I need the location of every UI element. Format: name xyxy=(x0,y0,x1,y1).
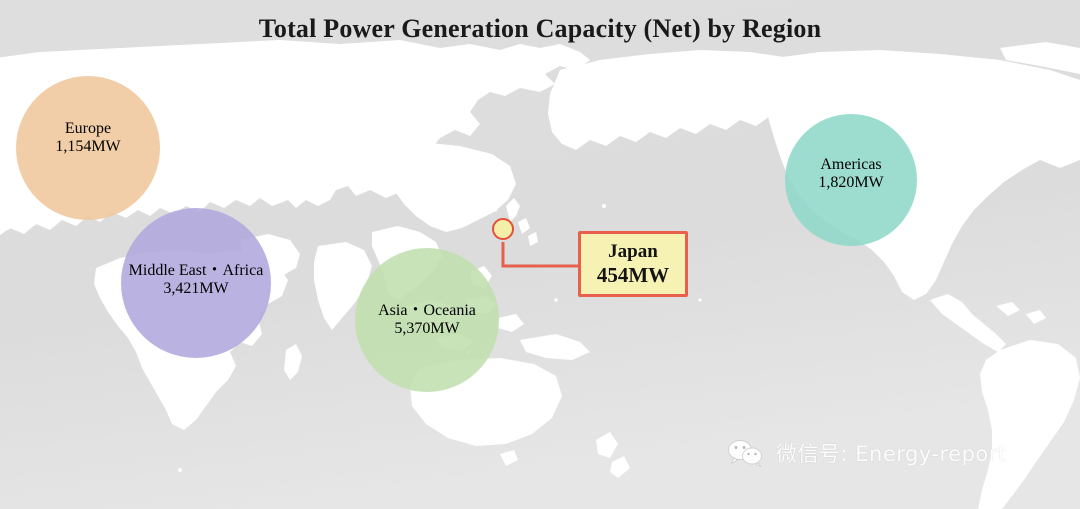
page-title: Total Power Generation Capacity (Net) by… xyxy=(0,14,1080,44)
bubble-asia-oceania[interactable] xyxy=(355,248,499,392)
infographic-canvas: Total Power Generation Capacity (Net) by… xyxy=(0,0,1080,509)
bubble-americas[interactable] xyxy=(785,114,917,246)
bubble-europe[interactable] xyxy=(16,76,160,220)
japan-callout-box[interactable]: Japan 454MW xyxy=(578,231,688,297)
watermark: 微信号: Energy-report xyxy=(726,438,1007,468)
japan-value: 454MW xyxy=(597,263,669,288)
wechat-icon xyxy=(726,438,766,468)
japan-map-marker[interactable] xyxy=(492,218,514,240)
japan-label: Japan xyxy=(608,241,658,263)
bubble-middle-east-africa[interactable] xyxy=(121,208,271,358)
watermark-text: 微信号: Energy-report xyxy=(776,438,1007,468)
